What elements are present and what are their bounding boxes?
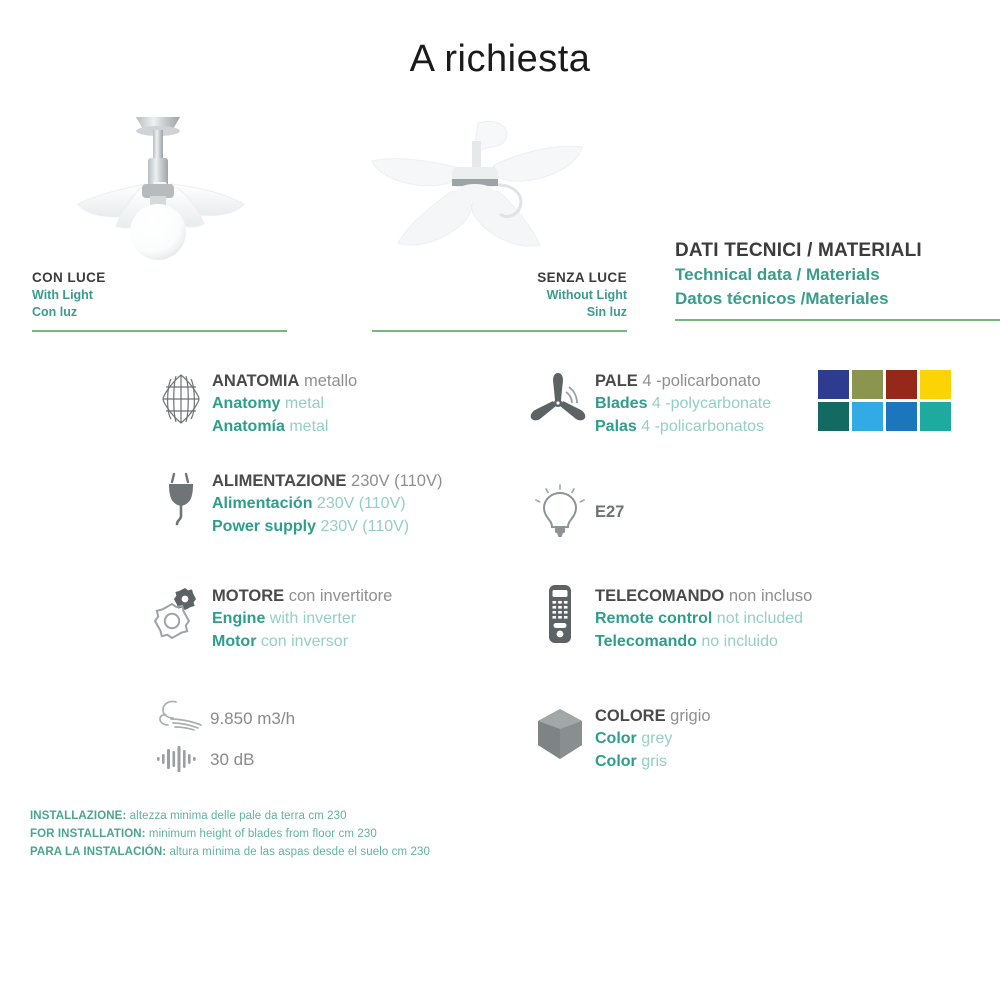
spec-key-es: Motor [212, 633, 256, 650]
swatch-2[interactable] [852, 370, 883, 399]
caption-label-en: Without Light [372, 287, 627, 304]
remote-control-icon [525, 583, 595, 645]
caption-divider [372, 330, 627, 332]
spec-row-power-supply: ALIMENTAZIONE 230V (110V) Alimentación 2… [150, 468, 442, 539]
installation-note-en: FOR INSTALLATION: minimum height of blad… [30, 826, 430, 844]
spec-key-es: Anatomía [212, 418, 285, 435]
note-text-es: altura mínima de las aspas desde el suel… [166, 846, 430, 858]
product-image-without-light [330, 105, 630, 275]
spec-key-es: Color [595, 753, 637, 770]
spec-text-remote: TELECOMANDO non incluso Remote control n… [595, 583, 812, 654]
spec-row-bulb: E27 [525, 482, 624, 542]
light-bulb-icon [525, 482, 595, 542]
technical-data-header: DATI TECNICI / MATERIALI Technical data … [675, 240, 975, 321]
spec-val-en: metal [280, 395, 324, 412]
swatch-7[interactable] [886, 402, 917, 431]
caption-label-it: CON LUCE [32, 268, 287, 287]
caption-with-light: CON LUCE With Light Con luz [32, 268, 287, 332]
spec-val-en: 230V (110V) [316, 518, 409, 535]
spec-key-en: Engine [212, 610, 265, 627]
spec-val-it: metallo [299, 372, 357, 390]
spec-row-motor: MOTORE con invertitore Engine with inver… [148, 583, 392, 654]
note-text-en: minimum height of blades from floor cm 2… [146, 828, 377, 840]
spec-key-it: ANATOMIA [212, 372, 299, 390]
spec-key-it: MOTORE [212, 587, 284, 605]
lattice-cage-icon [150, 368, 212, 430]
caption-label-es: Sin luz [372, 304, 627, 321]
spec-row-airflow: 9.850 m3/h [152, 698, 295, 738]
gears-icon [148, 583, 212, 645]
spec-val-it: 4 -policarbonato [638, 372, 761, 390]
spec-val-en: not included [712, 610, 803, 627]
spec-text-anatomy: ANATOMIA metallo Anatomy metal Anatomía … [212, 368, 357, 439]
swatch-1[interactable] [818, 370, 849, 399]
color-swatch-grid [818, 370, 951, 431]
product-image-with-light [28, 92, 328, 267]
tech-header-es: Datos técnicos /Materiales [675, 289, 975, 309]
spec-key-es: Telecomando [595, 633, 697, 650]
caption-label-en: With Light [32, 287, 287, 304]
spec-val-es: 4 -policarbonatos [637, 418, 764, 435]
spec-text-blades: PALE 4 -policarbonato Blades 4 -polycarb… [595, 368, 771, 439]
spec-key-es: Alimentación [212, 495, 312, 512]
installation-note-it: INSTALLAZIONE: altezza minima delle pale… [30, 808, 430, 826]
spec-key-es: Palas [595, 418, 637, 435]
noise-text: 30 dB [210, 748, 254, 770]
spec-val-en: grey [637, 730, 673, 747]
sound-wave-icon [152, 742, 210, 776]
spec-row-anatomy: ANATOMIA metallo Anatomy metal Anatomía … [150, 368, 357, 439]
spec-key-it: PALE [595, 372, 638, 390]
airflow-value: 9.850 m3/h [210, 709, 295, 729]
spec-text-bulb: E27 [595, 499, 624, 524]
swatch-4[interactable] [920, 370, 951, 399]
spec-val-it: non incluso [724, 587, 812, 605]
spec-key-it: TELECOMANDO [595, 587, 724, 605]
wind-swirl-icon [152, 698, 210, 738]
spec-key-en: Anatomy [212, 395, 280, 412]
spec-key-en: Power supply [212, 518, 316, 535]
spec-row-blades: PALE 4 -policarbonato Blades 4 -polycarb… [525, 368, 771, 439]
swatch-5[interactable] [818, 402, 849, 431]
spec-val-es: con inversor [256, 633, 348, 650]
spec-key-it: COLORE [595, 707, 666, 725]
spec-row-colour: COLORE grigio Color grey Color gris [525, 703, 711, 774]
gem-hexagon-icon [525, 703, 595, 765]
note-label-en: FOR INSTALLATION: [30, 828, 146, 840]
spec-val-en: with inverter [265, 610, 356, 627]
caption-divider [32, 330, 287, 332]
note-label-es: PARA LA INSTALACIÓN: [30, 846, 166, 858]
tech-header-it: DATI TECNICI / MATERIALI [675, 240, 975, 262]
tech-header-divider [675, 319, 1000, 321]
tech-header-en: Technical data / Materials [675, 265, 975, 285]
note-label-it: INSTALLAZIONE: [30, 810, 126, 822]
caption-label-it: SENZA LUCE [372, 268, 627, 287]
spec-key-en: Color [595, 730, 637, 747]
spec-val-en: 4 -polycarbonate [647, 395, 771, 412]
spec-text-power-supply: ALIMENTAZIONE 230V (110V) Alimentación 2… [212, 468, 442, 539]
spec-val-es: no incluido [697, 633, 778, 650]
spec-sheet-page: A richiesta [0, 0, 1000, 1000]
caption-label-es: Con luz [32, 304, 287, 321]
spec-key-it: ALIMENTAZIONE [212, 472, 346, 490]
spec-row-noise: 30 dB [152, 742, 254, 776]
note-text-it: altezza minima delle pale da terra cm 23… [126, 810, 346, 822]
fan-blades-icon [525, 368, 595, 430]
power-plug-icon [150, 468, 212, 530]
spec-row-remote: TELECOMANDO non incluso Remote control n… [525, 583, 812, 654]
spec-val-es: 230V (110V) [312, 495, 405, 512]
airflow-text: 9.850 m3/h [210, 707, 295, 729]
noise-value: 30 dB [210, 750, 254, 770]
swatch-3[interactable] [886, 370, 917, 399]
installation-notes: INSTALLAZIONE: altezza minima delle pale… [30, 808, 430, 861]
spec-val-es: gris [637, 753, 667, 770]
caption-without-light: SENZA LUCE Without Light Sin luz [372, 268, 627, 332]
spec-text-motor: MOTORE con invertitore Engine with inver… [212, 583, 392, 654]
installation-note-es: PARA LA INSTALACIÓN: altura mínima de la… [30, 844, 430, 862]
swatch-8[interactable] [920, 402, 951, 431]
swatch-6[interactable] [852, 402, 883, 431]
spec-val-it: con invertitore [284, 587, 392, 605]
spec-text-colour: COLORE grigio Color grey Color gris [595, 703, 711, 774]
bulb-socket-value: E27 [595, 503, 624, 521]
spec-key-en: Remote control [595, 610, 712, 627]
page-title: A richiesta [0, 38, 1000, 81]
spec-key-en: Blades [595, 395, 647, 412]
spec-val-es: metal [285, 418, 329, 435]
spec-val-it: grigio [666, 707, 711, 725]
spec-val-it: 230V (110V) [346, 472, 442, 490]
